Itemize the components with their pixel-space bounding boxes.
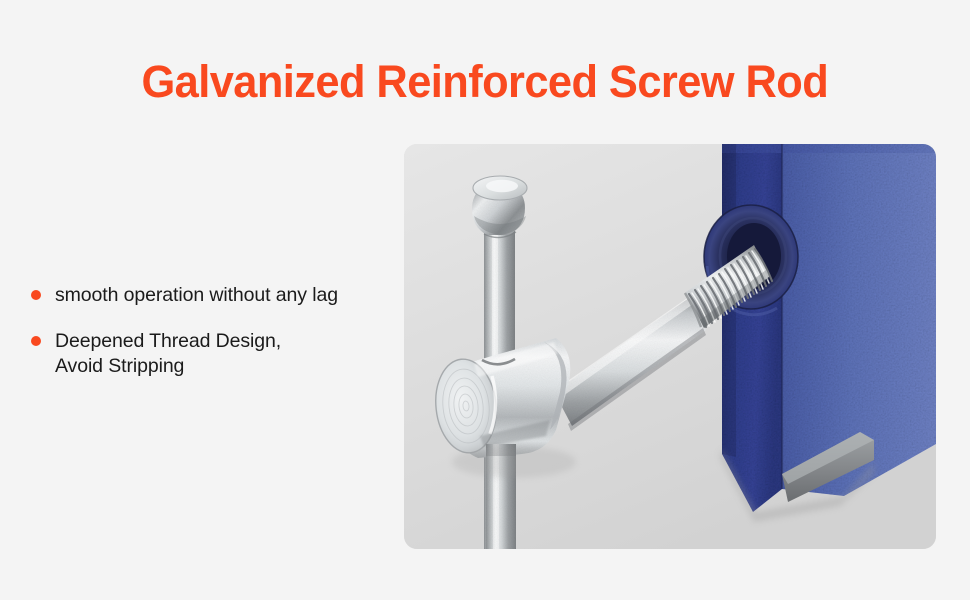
list-item: smooth operation without any lag	[31, 283, 401, 308]
bullet-dot-icon	[31, 290, 41, 300]
product-image	[404, 144, 936, 549]
feature-list: smooth operation without any lag Deepene…	[31, 283, 401, 379]
collar-shadow	[452, 446, 576, 478]
page-title: Galvanized Reinforced Screw Rod	[142, 58, 829, 105]
product-illustration	[404, 144, 936, 549]
bullet-dot-icon	[31, 336, 41, 346]
feature-label: smooth operation without any lag	[55, 283, 338, 308]
list-item: Deepened Thread Design, Avoid Stripping	[31, 329, 401, 379]
banner-header: Galvanized Reinforced Screw Rod	[0, 58, 970, 105]
feature-label: Deepened Thread Design, Avoid Stripping	[55, 329, 281, 379]
